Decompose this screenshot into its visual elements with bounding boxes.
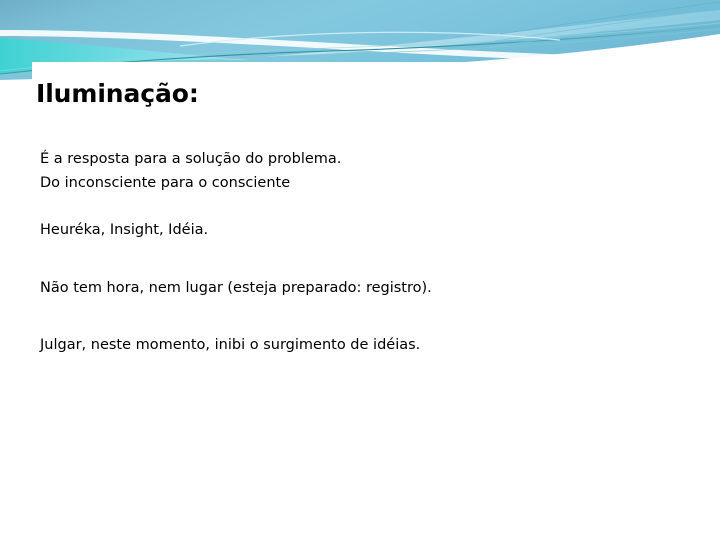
wave-arc-echo <box>180 32 560 46</box>
slide-canvas: Iluminação: É a resposta para a solução … <box>0 0 720 540</box>
paragraph-line: Não tem hora, nem lugar (esteja preparad… <box>40 276 640 300</box>
wave-white-band <box>0 30 720 66</box>
paragraph-line: Julgar, neste momento, inibi o surgiment… <box>40 333 640 357</box>
paragraph-line: Heuréka, Insight, Idéia. <box>40 218 640 242</box>
paragraph-julgamento: Julgar, neste momento, inibi o surgiment… <box>40 333 640 357</box>
paragraph-line: É a resposta para a solução do problema. <box>40 147 640 171</box>
paragraph-line: Do inconsciente para o consciente <box>40 171 640 195</box>
wave-soft-ribbon <box>250 10 720 58</box>
wave-corner-line-3 <box>490 14 720 47</box>
body-text-block: É a resposta para a solução do problema.… <box>40 147 640 357</box>
wave-corner-line-1 <box>500 2 720 34</box>
spacer <box>40 300 640 333</box>
spacer <box>40 195 640 218</box>
spacer <box>40 242 640 276</box>
paragraph-definicao: É a resposta para a solução do problema.… <box>40 147 640 195</box>
wave-corner-line-2 <box>495 8 720 41</box>
paragraph-ocorrencia: Não tem hora, nem lugar (esteja preparad… <box>40 276 640 300</box>
page-title: Iluminação: <box>36 79 199 109</box>
paragraph-sinonimos: Heuréka, Insight, Idéia. <box>40 218 640 242</box>
